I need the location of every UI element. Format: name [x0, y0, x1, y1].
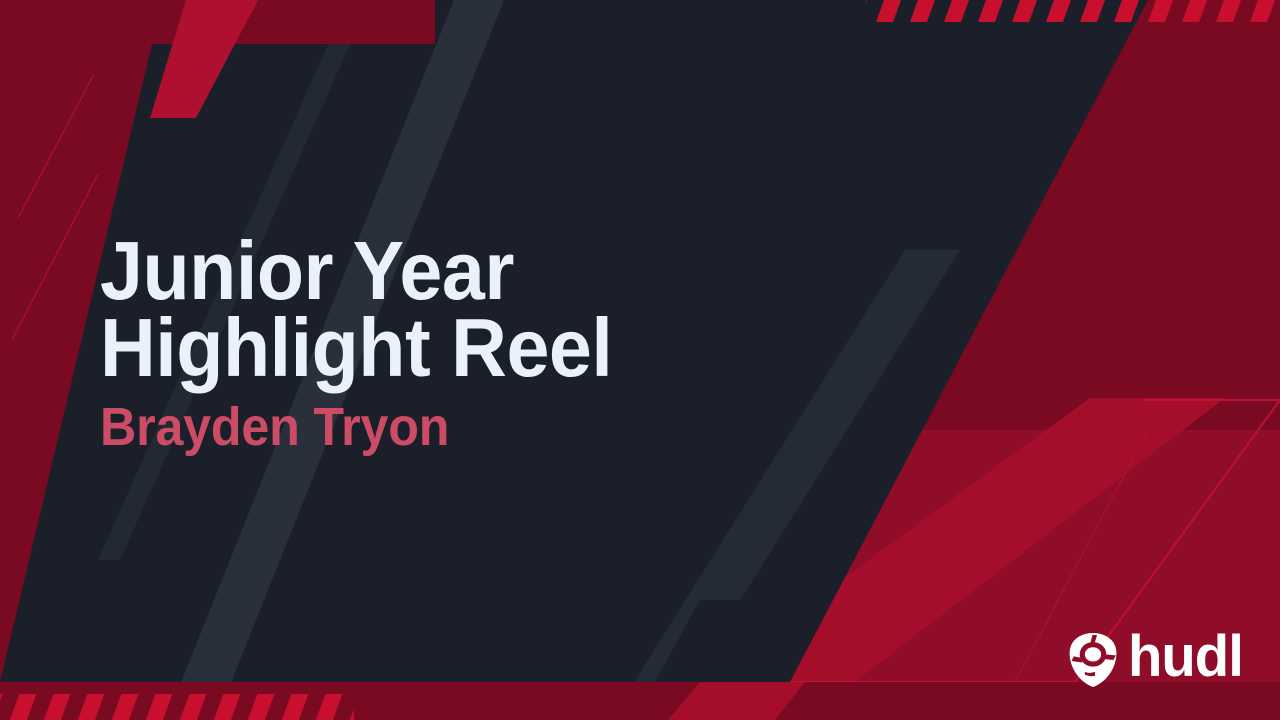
hudl-logo: hudl: [1067, 632, 1246, 688]
title-card: Junior Year Highlight Reel Brayden Tryon…: [0, 0, 1280, 720]
hudl-wordmark: hudl: [1128, 628, 1243, 686]
background-graphic: [0, 0, 1280, 720]
hudl-shield-icon: [1067, 632, 1119, 688]
hatch-band-top-right: [866, 0, 1280, 22]
hatch-band-bottom-left: [0, 694, 354, 720]
